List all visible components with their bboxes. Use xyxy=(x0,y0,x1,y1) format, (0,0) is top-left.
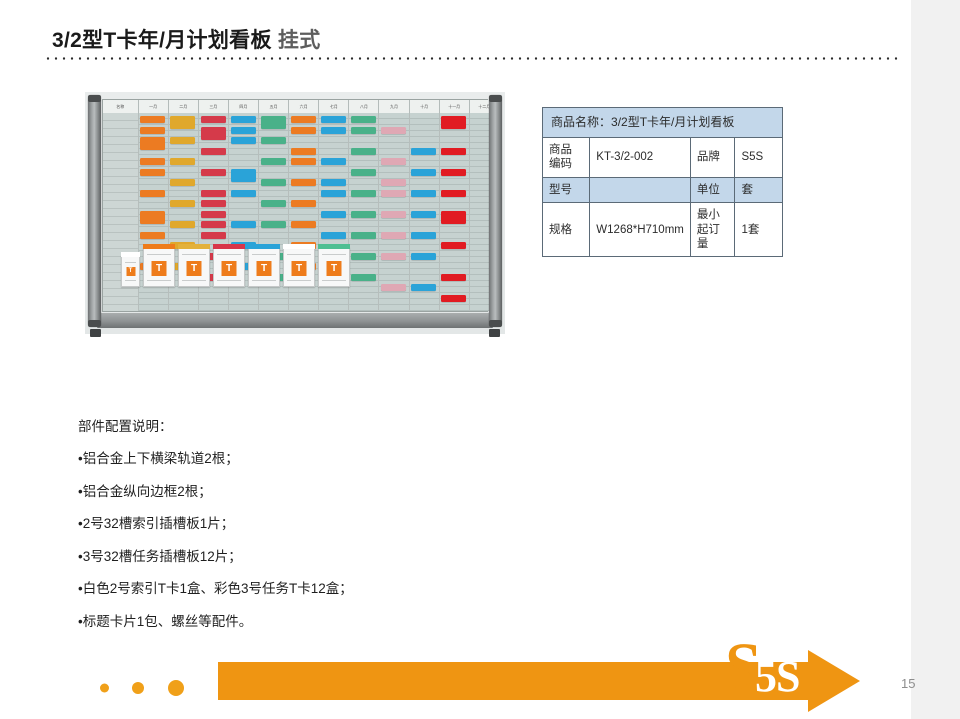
spec-key-brand: 品牌 xyxy=(690,138,735,178)
t-card xyxy=(441,116,466,129)
t-card xyxy=(321,127,346,134)
board-column-header: 六月 xyxy=(289,100,319,113)
box-line xyxy=(322,254,346,255)
t-card xyxy=(291,148,316,155)
t-card xyxy=(291,158,316,165)
t-card xyxy=(140,169,165,176)
t-card-box: T xyxy=(283,247,315,287)
spec-value-moq: 1套 xyxy=(735,203,783,257)
board-bottom-rail xyxy=(97,313,493,328)
t-card xyxy=(291,179,316,186)
t-card xyxy=(441,169,466,176)
footer-dots xyxy=(100,676,210,700)
board-column-header: 八月 xyxy=(349,100,379,113)
box-line xyxy=(182,280,206,281)
t-card xyxy=(140,211,165,224)
t-card-box: T xyxy=(318,247,350,287)
t-card xyxy=(441,190,466,197)
list-item: •铝合金上下横梁轨道2根； xyxy=(78,447,498,467)
t-card xyxy=(140,232,165,239)
t-card xyxy=(441,295,466,302)
t-card xyxy=(261,221,286,228)
t-card xyxy=(321,211,346,218)
t-card xyxy=(441,148,466,155)
t-card-box-row: TTTTTTT xyxy=(121,245,350,287)
board-column-header: 二月 xyxy=(169,100,199,113)
t-card xyxy=(411,284,436,291)
t-card-box-lid xyxy=(121,252,140,257)
t-card xyxy=(411,148,436,155)
t-card xyxy=(140,127,165,134)
box-line xyxy=(125,280,136,281)
t-card xyxy=(291,127,316,134)
t-card-box: T xyxy=(143,247,175,287)
t-logo-icon: T xyxy=(292,261,307,276)
board-column-header: 九月 xyxy=(379,100,409,113)
t-card xyxy=(381,179,406,186)
t-card xyxy=(231,137,256,144)
box-line xyxy=(147,280,171,281)
board-column-header: 三月 xyxy=(199,100,229,113)
t-card xyxy=(351,148,376,155)
spec-header-value: 3/2型T卡年/月计划看板 xyxy=(611,115,734,129)
spec-value-unit: 套 xyxy=(735,177,783,202)
t-card xyxy=(261,200,286,207)
board-column-header-row: 名称一月二月三月四月五月六月七月八月九月十月十一月十二月 xyxy=(103,100,487,114)
board-foot-right xyxy=(489,329,500,337)
t-card-box-lid xyxy=(143,244,175,249)
t-card xyxy=(291,221,316,228)
list-item: •铝合金纵向边框2根； xyxy=(78,480,498,500)
footer-bar xyxy=(218,662,779,700)
title-dotted-divider xyxy=(44,57,900,60)
t-logo-icon: T xyxy=(187,261,202,276)
t-card-box-lid xyxy=(248,244,280,249)
t-card xyxy=(381,211,406,218)
board-column-header: 十一月 xyxy=(440,100,470,113)
spec-key-size: 规格 xyxy=(543,203,590,257)
t-card xyxy=(261,116,286,129)
t-card xyxy=(231,221,256,228)
t-card xyxy=(381,253,406,260)
post-cap-top xyxy=(88,95,101,102)
board-column-header: 十月 xyxy=(410,100,440,113)
slide-page: 3/2型T卡年/月计划看板 挂式 名称一月二月三月四月五月六月七月八月九月十月十… xyxy=(0,0,960,719)
t-card xyxy=(411,211,436,218)
t-card xyxy=(351,253,376,260)
t-card xyxy=(201,169,226,176)
box-line xyxy=(322,280,346,281)
board-foot-left xyxy=(90,329,101,337)
t-card xyxy=(170,158,195,165)
product-photo: 名称一月二月三月四月五月六月七月八月九月十月十一月十二月 TTTTTTT xyxy=(85,92,505,334)
t-card xyxy=(140,190,165,197)
board-right-post xyxy=(489,95,502,327)
t-card-box: T xyxy=(213,247,245,287)
page-number: 15 xyxy=(901,676,915,691)
box-line xyxy=(252,280,276,281)
t-card xyxy=(351,127,376,134)
t-card xyxy=(231,169,256,182)
footer-slogan: 让我们一起进步 xyxy=(240,0,363,38)
board-face: 名称一月二月三月四月五月六月七月八月九月十月十一月十二月 TTTTTTT xyxy=(102,99,488,312)
t-logo-icon: T xyxy=(327,261,342,276)
spec-value-brand: S5S xyxy=(735,138,783,178)
t-card xyxy=(441,274,466,281)
dot-icon xyxy=(100,684,109,693)
t-logo-icon: T xyxy=(257,261,272,276)
post-cap-top xyxy=(489,95,502,102)
post-cap-bottom xyxy=(88,320,101,327)
board-column-header: 四月 xyxy=(229,100,259,113)
t-card xyxy=(351,169,376,176)
t-card xyxy=(291,116,316,123)
t-card xyxy=(170,179,195,186)
post-cap-bottom xyxy=(489,320,502,327)
t-card xyxy=(291,200,316,207)
t-card xyxy=(321,190,346,197)
t-logo-icon: T xyxy=(222,261,237,276)
t-logo-icon: T xyxy=(152,261,167,276)
spec-header-label: 商品名称： xyxy=(551,115,611,129)
t-card-box-lid xyxy=(213,244,245,249)
t-card xyxy=(351,190,376,197)
t-card xyxy=(411,232,436,239)
product-spec-table: 商品名称：3/2型T卡年/月计划看板 商品编码 KT-3/2-002 品牌 S5… xyxy=(542,107,783,257)
spec-value-size: W1268*H710mm xyxy=(590,203,691,257)
t-card xyxy=(231,190,256,197)
list-item: •白色2号索引T卡1盒、彩色3号任务T卡12盒； xyxy=(78,577,498,597)
table-row: 规格 W1268*H710mm 最小起订量 1套 xyxy=(543,203,783,257)
t-card xyxy=(201,127,226,140)
t-card xyxy=(321,179,346,186)
table-row: 型号 单位 套 xyxy=(543,177,783,202)
t-card xyxy=(351,274,376,281)
t-card xyxy=(201,211,226,218)
t-card xyxy=(201,232,226,239)
list-item: •标题卡片1包、螺丝等配件。 xyxy=(78,610,498,630)
t-card xyxy=(170,116,195,129)
t-card xyxy=(351,211,376,218)
t-card xyxy=(140,137,165,150)
board-column-header: 名称 xyxy=(103,100,139,113)
t-card xyxy=(411,253,436,260)
t-card xyxy=(321,158,346,165)
t-card xyxy=(201,116,226,123)
list-item: •3号32槽任务插槽板12片； xyxy=(78,545,498,565)
t-card-box: T xyxy=(248,247,280,287)
t-card xyxy=(321,232,346,239)
t-card xyxy=(411,169,436,176)
spec-header-row: 商品名称：3/2型T卡年/月计划看板 xyxy=(543,108,783,138)
t-card-box-lid xyxy=(178,244,210,249)
t-card xyxy=(201,190,226,197)
list-item: •2号32槽索引插槽板1片； xyxy=(78,512,498,532)
board-month-column xyxy=(349,113,379,311)
t-card xyxy=(441,211,466,224)
t-card-box-lid xyxy=(318,244,350,249)
t-card xyxy=(381,127,406,134)
box-line xyxy=(217,280,241,281)
parts-configuration-notes: 部件配置说明： •铝合金上下横梁轨道2根； •铝合金纵向边框2根； •2号32槽… xyxy=(78,415,498,642)
spec-key-unit: 单位 xyxy=(690,177,735,202)
t-card xyxy=(170,137,195,144)
box-line xyxy=(252,254,276,255)
t-card xyxy=(261,137,286,144)
dot-icon xyxy=(168,680,184,696)
t-card xyxy=(140,116,165,123)
t-card xyxy=(351,232,376,239)
notes-lead: 部件配置说明： xyxy=(78,415,498,435)
table-row: 商品编码 KT-3/2-002 品牌 S5S xyxy=(543,138,783,178)
spec-value-model xyxy=(590,177,691,202)
footer-url[interactable]: http://www.s5s.cc xyxy=(23,0,158,38)
box-line xyxy=(287,254,311,255)
t-card xyxy=(351,116,376,123)
spec-key-model: 型号 xyxy=(543,177,590,202)
t-card xyxy=(201,148,226,155)
board-column-header: 五月 xyxy=(259,100,289,113)
t-card xyxy=(170,221,195,228)
t-card xyxy=(261,158,286,165)
s5s-logo-bottom: 5S xyxy=(755,655,799,699)
t-card-box: T xyxy=(178,247,210,287)
t-card xyxy=(381,232,406,239)
board-column-header: 七月 xyxy=(319,100,349,113)
box-line xyxy=(217,254,241,255)
spec-value-code: KT-3/2-002 xyxy=(590,138,691,178)
t-card xyxy=(381,284,406,291)
t-logo-icon: T xyxy=(126,267,135,276)
t-card xyxy=(381,190,406,197)
t-card xyxy=(261,179,286,186)
spec-key-moq: 最小起订量 xyxy=(690,203,735,257)
t-card-box: T xyxy=(121,255,140,287)
right-gray-band xyxy=(911,0,960,719)
t-card xyxy=(231,116,256,123)
board-column-header: 一月 xyxy=(139,100,169,113)
spec-key-code: 商品编码 xyxy=(543,138,590,178)
box-line xyxy=(287,280,311,281)
board-month-column xyxy=(410,113,440,311)
spec-header-cell: 商品名称：3/2型T卡年/月计划看板 xyxy=(543,108,783,138)
board-month-column xyxy=(440,113,470,311)
t-card xyxy=(201,221,226,228)
box-line xyxy=(125,262,136,263)
t-card xyxy=(140,158,165,165)
t-card-box-lid xyxy=(283,244,315,249)
board-month-column xyxy=(379,113,409,311)
board-left-post xyxy=(88,95,101,327)
t-card xyxy=(381,158,406,165)
t-card xyxy=(170,200,195,207)
t-card xyxy=(201,200,226,207)
box-line xyxy=(182,254,206,255)
t-card xyxy=(321,116,346,123)
t-card xyxy=(411,190,436,197)
dot-icon xyxy=(132,682,144,694)
t-card xyxy=(441,242,466,249)
box-line xyxy=(147,254,171,255)
t-card xyxy=(231,127,256,134)
